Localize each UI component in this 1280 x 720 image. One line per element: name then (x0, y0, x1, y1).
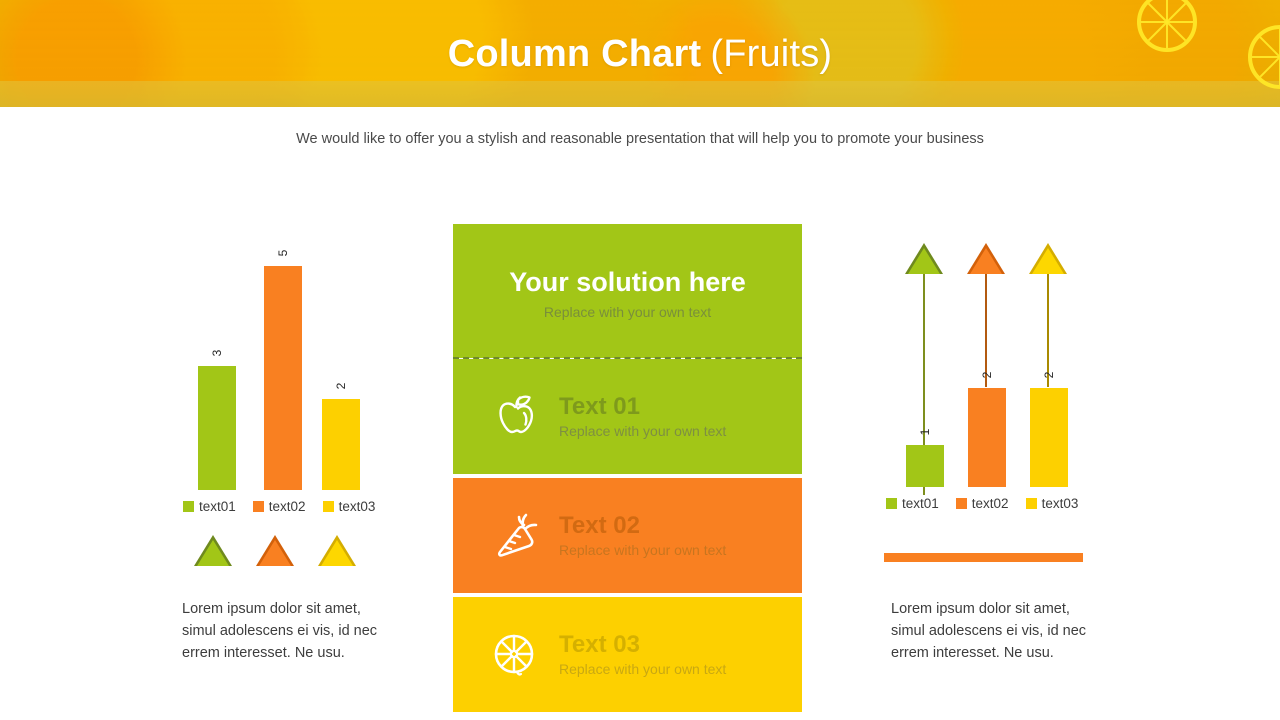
right-chart-legend: text01 text02 text03 (886, 496, 1078, 511)
legend-swatch-icon (323, 501, 334, 512)
legend-swatch-icon (253, 501, 264, 512)
solution-headline: Your solution here (453, 267, 802, 298)
content-row-text: Text 01 Replace with your own text (559, 394, 726, 439)
content-row-text: Text 02 Replace with your own text (559, 513, 726, 558)
solution-headline-sub: Replace with your own text (453, 304, 802, 320)
content-row-sub: Replace with your own text (559, 423, 726, 439)
bar-label-text03: 2 (334, 383, 348, 390)
page-title-light: (Fruits) (710, 35, 832, 73)
bar-label-text03: 2 (1042, 372, 1056, 379)
page-subtitle: We would like to offer you a stylish and… (0, 131, 1280, 147)
legend-swatch-icon (956, 498, 967, 509)
legend-label: text01 (902, 496, 939, 511)
legend-item-text01[interactable]: text01 (183, 499, 236, 514)
legend-item-text02[interactable]: text02 (956, 496, 1009, 511)
slide-header: Column Chart (Fruits) (0, 0, 1280, 107)
apple-icon (487, 389, 543, 445)
lemon-slice-icon (487, 627, 543, 683)
content-row-sub: Replace with your own text (559, 542, 726, 558)
bar-text02[interactable] (968, 388, 1006, 487)
bar-label-text01: 1 (918, 429, 932, 436)
legend-label: text03 (339, 499, 376, 514)
legend-item-text03[interactable]: text03 (323, 499, 376, 514)
bar-column-text01[interactable]: 3 (198, 366, 236, 490)
bar-column-text02[interactable]: 2 (968, 388, 1006, 487)
legend-item-text03[interactable]: text03 (1026, 496, 1079, 511)
legend-swatch-icon (1026, 498, 1037, 509)
bar-text01[interactable] (198, 366, 236, 490)
legend-item-text02[interactable]: text02 (253, 499, 306, 514)
left-chart-bars: 3 5 2 (180, 250, 380, 490)
bar-label-text02: 2 (980, 372, 994, 379)
legend-item-text01[interactable]: text01 (886, 496, 939, 511)
left-column-chart: 3 5 2 (180, 250, 380, 490)
legend-swatch-icon (183, 501, 194, 512)
content-row-sub: Replace with your own text (559, 661, 726, 677)
bar-text01[interactable] (906, 445, 944, 487)
content-row-title: Text 02 (559, 513, 726, 538)
content-row-title: Text 03 (559, 632, 726, 657)
right-body-text: Lorem ipsum dolor sit amet, simul adoles… (891, 598, 1106, 664)
content-row-text02[interactable]: Text 02 Replace with your own text (453, 478, 802, 593)
slide-canvas: Column Chart (Fruits) We would like to o… (0, 0, 1280, 720)
bar-label-text01: 3 (210, 350, 224, 357)
right-chart-bars: 1 2 2 (885, 250, 1085, 487)
bar-text03[interactable] (322, 399, 360, 490)
content-row-text: Text 03 Replace with your own text (559, 632, 726, 677)
solution-headline-panel[interactable]: Your solution here Replace with your own… (453, 224, 802, 358)
legend-label: text03 (1042, 496, 1079, 511)
bar-column-text03[interactable]: 2 (322, 399, 360, 490)
legend-label: text02 (269, 499, 306, 514)
carrot-icon (487, 508, 543, 564)
right-column-chart: 1 2 2 (885, 250, 1085, 487)
bar-column-text03[interactable]: 2 (1030, 388, 1068, 487)
legend-label: text02 (972, 496, 1009, 511)
bar-label-text02: 5 (276, 250, 290, 257)
content-row-text01[interactable]: Text 01 Replace with your own text (453, 359, 802, 474)
bar-column-text02[interactable]: 5 (264, 266, 302, 490)
bar-text03[interactable] (1030, 388, 1068, 487)
legend-label: text01 (199, 499, 236, 514)
left-chart-legend: text01 text02 text03 (183, 499, 375, 514)
page-title: Column Chart (Fruits) (0, 0, 1280, 107)
bar-text02[interactable] (264, 266, 302, 490)
content-row-text03[interactable]: Text 03 Replace with your own text (453, 597, 802, 712)
content-row-title: Text 01 (559, 394, 726, 419)
bar-column-text01[interactable]: 1 (906, 445, 944, 487)
left-body-text: Lorem ipsum dolor sit amet, simul adoles… (182, 598, 397, 664)
legend-swatch-icon (886, 498, 897, 509)
page-title-bold: Column Chart (448, 35, 702, 73)
right-accent-rule (884, 553, 1083, 562)
center-panel-group: Your solution here Replace with your own… (453, 224, 802, 712)
